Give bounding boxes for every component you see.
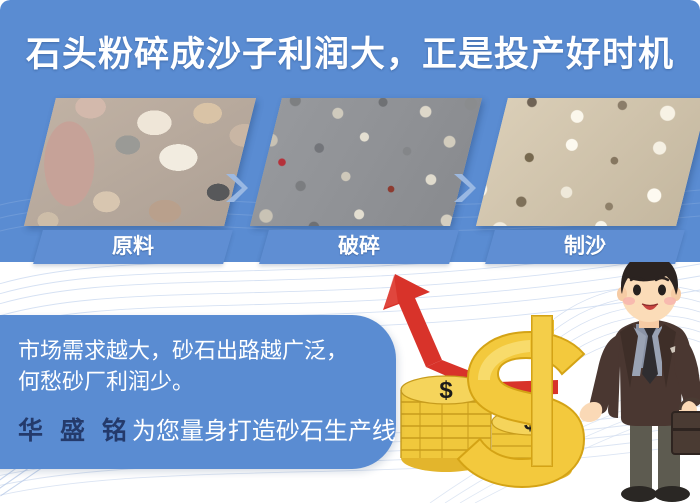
- process-label-1-text: 原料: [38, 230, 228, 264]
- process-label-3-text: 制沙: [490, 230, 680, 264]
- svg-text:$: $: [439, 377, 453, 404]
- process-label-2-text: 破碎: [264, 230, 454, 264]
- process-card-1: [40, 98, 240, 226]
- process-label-2: 破碎: [259, 230, 459, 264]
- river-stones-photo: [24, 98, 256, 226]
- dollar-sign-icon: [458, 316, 584, 487]
- businessman-with-money-illustration: $ $: [380, 262, 700, 503]
- message-line-1: 市场需求越大，砂石出路越广泛，: [18, 335, 378, 366]
- promo-banner: 石头粉碎成沙子利润大，正是投产好时机: [0, 0, 700, 503]
- message-line-2: 何愁砂厂利润少。: [18, 366, 378, 397]
- page-title: 石头粉碎成沙子利润大，正是投产好时机: [0, 26, 700, 77]
- tagline-text: 为您量身打造砂石生产线: [132, 418, 396, 445]
- chevron-right-icon: [222, 172, 250, 204]
- brand-name: 华 盛 铭: [18, 417, 132, 445]
- process-card-3: [492, 98, 692, 226]
- manufactured-sand-photo: [476, 98, 700, 226]
- brand-tagline: 华 盛 铭为您量身打造砂石生产线: [18, 411, 378, 447]
- process-card-2: [266, 98, 466, 226]
- process-label-3: 制沙: [485, 230, 685, 264]
- process-label-1: 原料: [33, 230, 233, 264]
- chevron-right-icon: [450, 172, 478, 204]
- message-box: 市场需求越大，砂石出路越广泛， 何愁砂厂利润少。 华 盛 铭为您量身打造砂石生产…: [0, 315, 396, 469]
- header-panel: 石头粉碎成沙子利润大，正是投产好时机: [0, 0, 700, 262]
- crushed-gravel-photo: [250, 98, 482, 226]
